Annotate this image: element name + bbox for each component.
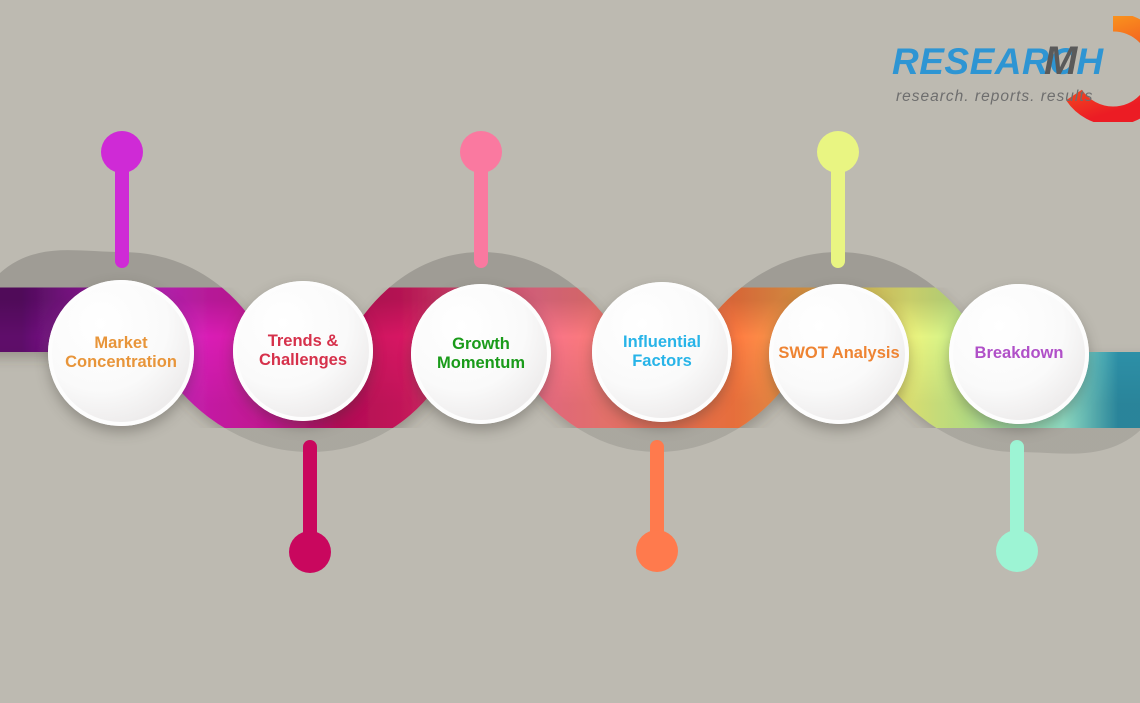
- connector-bottom-3-dot: [996, 530, 1038, 572]
- connector-bottom-3-stem: [1010, 440, 1024, 540]
- node-swot-analysis[interactable]: SWOT Analysis: [769, 284, 909, 424]
- node-growth-momentum[interactable]: Growth Momentum: [411, 284, 551, 424]
- connector-bottom-2-dot: [636, 530, 678, 572]
- infographic-canvas: Market ConcentrationTrends & ChallengesG…: [0, 0, 1140, 703]
- node-label-trends-challenges: Trends & Challenges: [251, 332, 355, 370]
- connector-bottom-2-stem: [650, 440, 664, 540]
- connector-top-3-dot: [817, 131, 859, 173]
- node-label-influential-factors: Influential Factors: [615, 333, 709, 371]
- node-label-growth-momentum: Growth Momentum: [429, 335, 533, 373]
- connector-bottom-1-stem: [303, 440, 317, 540]
- connector-bottom-1-dot: [289, 531, 331, 573]
- node-influential-factors[interactable]: Influential Factors: [592, 282, 732, 422]
- logo-accent-letter: M: [1044, 41, 1077, 81]
- node-label-breakdown: Breakdown: [967, 344, 1072, 363]
- node-label-market-concentration: Market Concentration: [57, 334, 185, 372]
- node-trends-challenges[interactable]: Trends & Challenges: [233, 281, 373, 421]
- node-breakdown[interactable]: Breakdown: [949, 284, 1089, 424]
- connector-top-1-dot: [101, 131, 143, 173]
- node-market-concentration[interactable]: Market Concentration: [48, 280, 194, 426]
- node-label-swot-analysis: SWOT Analysis: [770, 344, 907, 363]
- brand-logo: RESEARCH M research. reports. results: [884, 14, 1140, 124]
- connector-top-2-dot: [460, 131, 502, 173]
- logo-tagline: research. reports. results: [896, 88, 1093, 106]
